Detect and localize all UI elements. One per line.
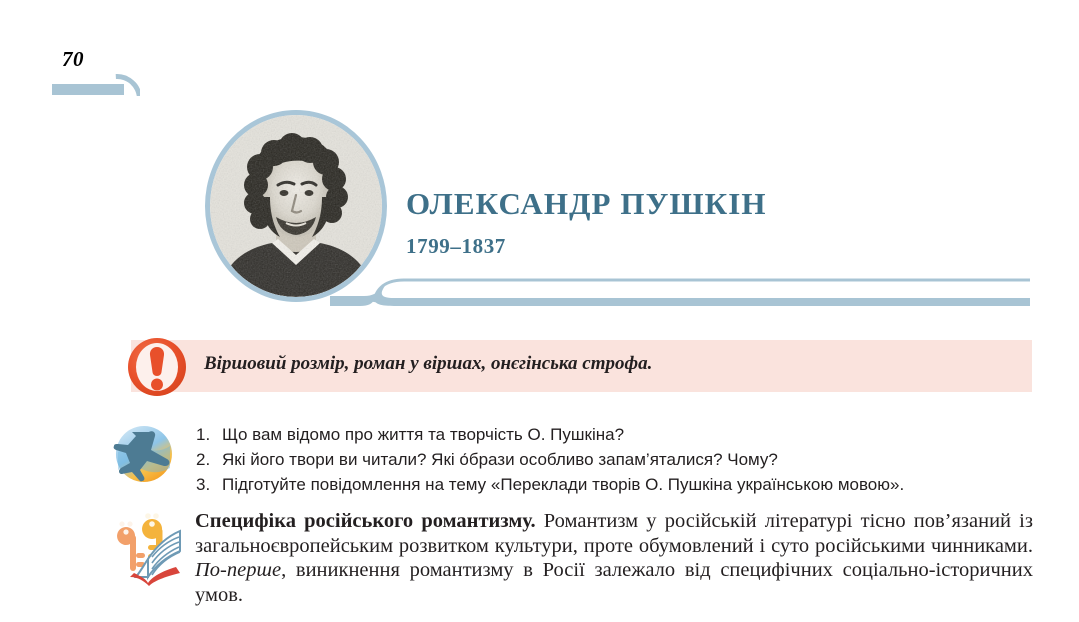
exclamation-icon [126,336,188,398]
page-title: ОЛЕКСАНДР ПУШКІН [406,186,767,222]
page-number: 70 [62,47,84,72]
body-paragraph: Специфіка російського романтизму. Романт… [103,509,1033,607]
list-item-label: Які його твори ви читали? Які о́брази ос… [222,447,778,472]
airplane-icon [108,418,180,490]
page-number-rule-curl-icon [110,74,140,96]
list-item-number: 3. [196,472,222,497]
body-paragraph-emphasis: По-перше [195,559,281,581]
list-item-label: Підготуйте повідомлення на тему «Перекла… [222,472,904,497]
list-item: 1. Що вам відомо про життя та творчість … [196,422,1036,447]
list-item-number: 2. [196,447,222,472]
list-item: 2. Які його твори ви читали? Які о́брази… [196,447,1036,472]
body-paragraph-text-2: , виникнення романтизму в Росії залежало… [195,559,1033,606]
list-item: 3. Підготуйте повідомлення на тему «Пере… [196,472,1036,497]
author-life-dates: 1799–1837 [406,234,506,259]
body-icon-indent-spacer [103,509,195,583]
list-item-number: 1. [196,422,222,447]
key-terms-text: Віршовий розмір, роман у віршах, онєгінс… [204,353,652,375]
author-portrait-image [210,115,382,297]
heading-ribbon-decoration [330,272,1030,312]
questions-list: 1. Що вам відомо про життя та творчість … [196,422,1036,497]
body-paragraph-heading: Специфіка російського романтизму. [195,510,536,532]
list-item-label: Що вам відомо про життя та творчість О. … [222,422,624,447]
